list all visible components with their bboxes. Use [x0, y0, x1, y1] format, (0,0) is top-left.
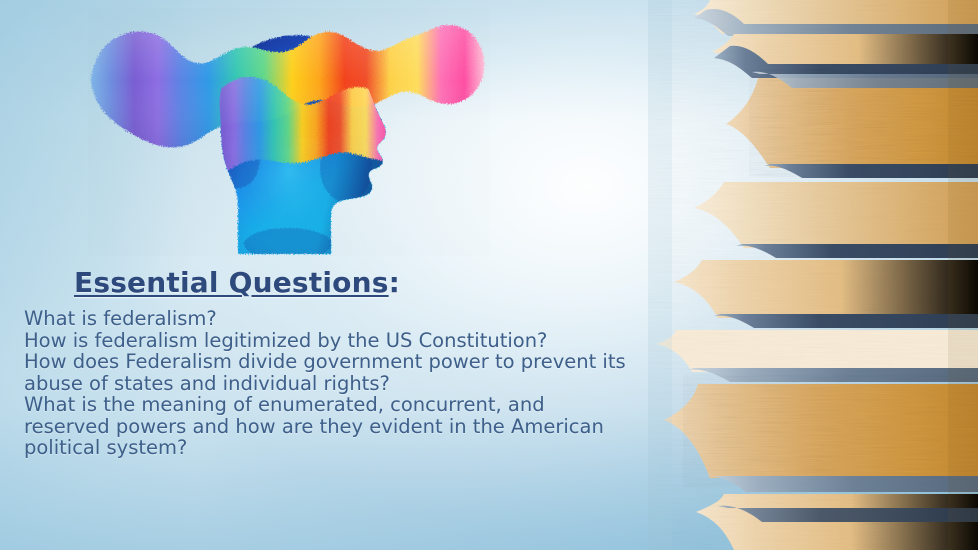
- question-line: How does Federalism divide government po…: [24, 351, 672, 394]
- question-line: What is federalism?: [24, 308, 672, 330]
- page-title-colon: :: [389, 266, 400, 299]
- page-title-underlined: Essential Questions: [74, 266, 389, 299]
- page-title: Essential Questions:: [74, 266, 400, 299]
- question-line: What is the meaning of enumerated, concu…: [24, 394, 672, 459]
- question-line: How is federalism legitimized by the US …: [24, 330, 672, 352]
- essential-questions-list: What is federalism? How is federalism le…: [24, 308, 672, 459]
- book-stack-image: [648, 0, 978, 550]
- watercolor-head-artwork: [88, 8, 490, 256]
- slide-canvas: Essential Questions: What is federalism?…: [0, 0, 978, 550]
